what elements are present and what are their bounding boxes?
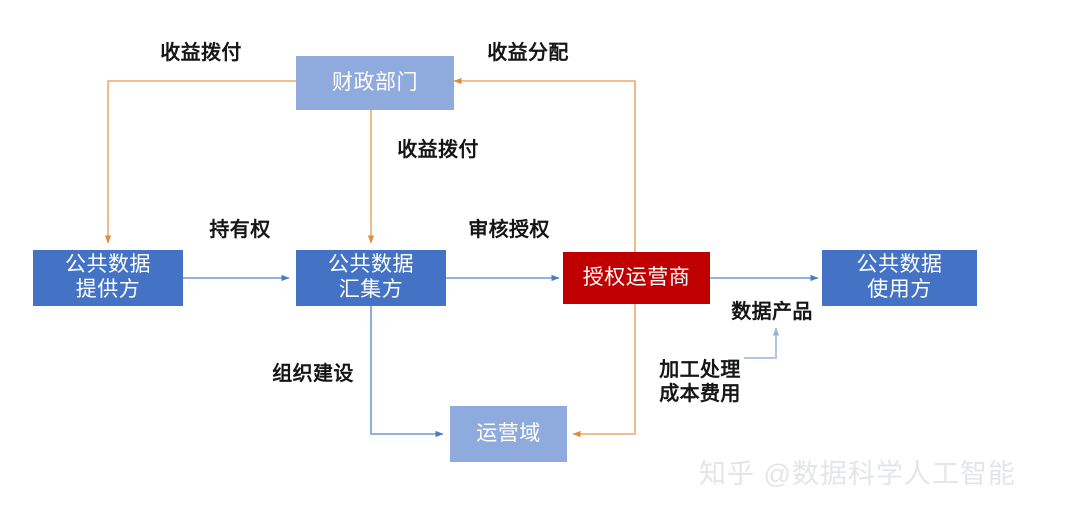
diagram-canvas: 财政部门 公共数据 提供方 公共数据 汇集方 授权运营商 公共数据 使用方 运营… (0, 0, 1080, 514)
node-finance-department[interactable]: 财政部门 (296, 56, 454, 110)
node-authorized-operator[interactable]: 授权运营商 (563, 252, 710, 304)
node-label: 公共数据 使用方 (857, 253, 943, 303)
edge-collector-to-opdomain (371, 306, 443, 434)
node-public-data-consumer[interactable]: 公共数据 使用方 (822, 250, 977, 306)
edge-label-revenue-allocation-left: 收益拨付 (141, 41, 261, 65)
edge-label-review-authorization: 审核授权 (449, 218, 569, 242)
edge-operator-to-opdomain (573, 304, 635, 434)
node-public-data-collector[interactable]: 公共数据 汇集方 (296, 250, 446, 306)
edge-label-revenue-distribution: 收益分配 (468, 41, 588, 65)
edge-label-data-product: 数据产品 (712, 300, 832, 324)
node-label: 运营域 (476, 422, 541, 447)
node-label: 财政部门 (332, 71, 418, 96)
node-public-data-provider[interactable]: 公共数据 提供方 (33, 250, 183, 306)
edge-label-revenue-allocation-middle: 收益拨付 (378, 138, 498, 162)
node-label: 公共数据 提供方 (65, 253, 151, 303)
edge-label-processing-cost: 加工处理 成本费用 (648, 358, 752, 407)
node-label: 授权运营商 (583, 266, 691, 291)
edge-data-product-leader (744, 328, 776, 358)
node-label: 公共数据 汇集方 (328, 253, 414, 303)
edge-label-ownership: 持有权 (190, 218, 290, 242)
edge-label-organization-building: 组织建设 (253, 362, 373, 386)
watermark: 知乎 @数据科学人工智能 (699, 452, 1016, 491)
node-operation-domain[interactable]: 运营域 (450, 406, 567, 462)
